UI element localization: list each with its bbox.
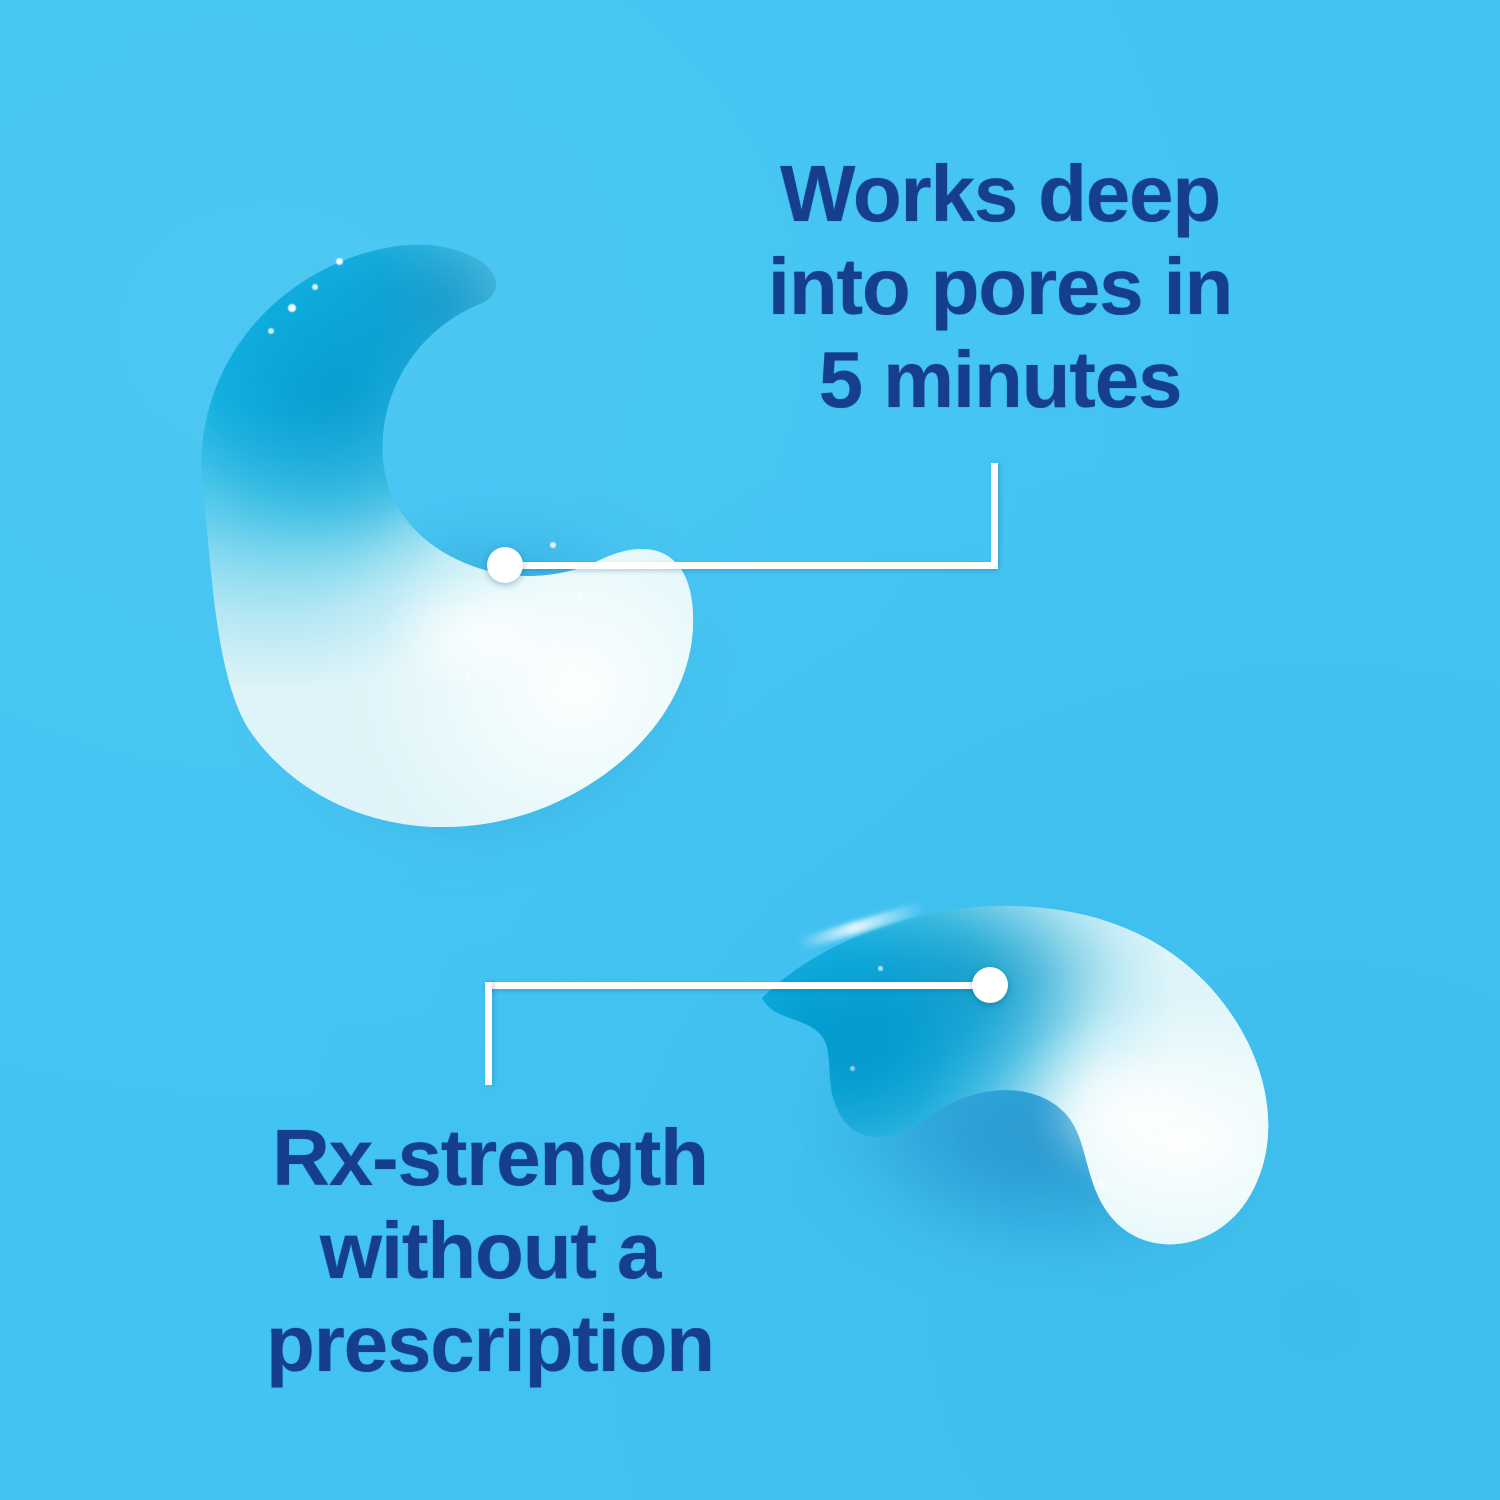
gel-swatch-bottom-right [700,880,1320,1300]
callout-dot-icon [972,967,1008,1003]
gel-swatch-gloss-highlight [1030,1050,1260,1220]
callout-vertical-line [991,463,998,566]
benefit-line: Rx-strength [190,1112,790,1205]
sparkle-bubble-icon [268,328,274,334]
callout-horizontal-line [485,982,985,989]
benefit-line: without a [190,1205,790,1298]
benefit-graphic-canvas: Works deep into pores in 5 minutes Rx-st… [0,0,1500,1500]
sparkle-bubble-icon [878,966,883,971]
benefit-line: prescription [190,1298,790,1391]
benefit-line: 5 minutes [700,334,1300,427]
benefit-line: Works deep [700,148,1300,241]
callout-dot-icon [487,547,523,583]
benefit-line: into pores in [700,241,1300,334]
sparkle-bubble-icon [850,1066,855,1071]
sparkle-bubble-icon [1098,1180,1104,1186]
callout-horizontal-line [516,562,998,569]
sparkle-bubble-icon [550,542,556,548]
benefit-text-rx-strength-without-prescription: Rx-strength without a prescription [190,1112,790,1390]
sparkle-bubble-icon [336,258,343,265]
benefit-text-works-deep-into-pores: Works deep into pores in 5 minutes [700,148,1300,426]
sparkle-bubble-icon [288,304,296,312]
callout-vertical-line [485,982,492,1085]
gel-swatch-gloss-highlight [380,582,630,732]
sparkle-bubble-icon [578,592,583,597]
sparkle-bubble-icon [464,674,470,680]
gel-swatch-top-left [130,200,730,840]
sparkle-bubble-icon [312,284,318,290]
